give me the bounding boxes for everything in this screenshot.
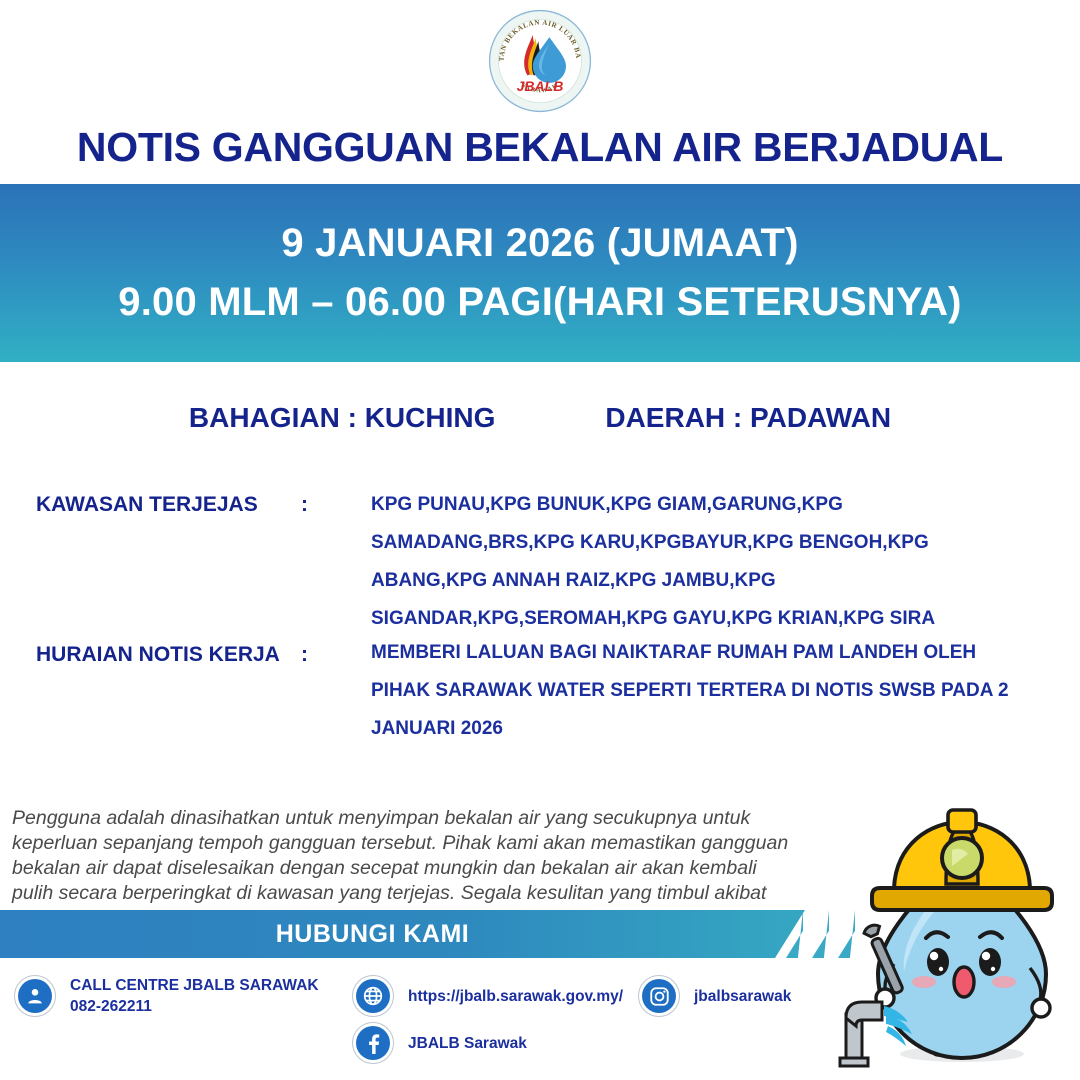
contact-facebook[interactable]: JBALB Sarawak: [352, 1022, 527, 1064]
schedule-banner: 9 JANUARI 2026 (JUMAAT) 9.00 MLM – 06.00…: [0, 184, 1080, 362]
affected-areas-colon: :: [301, 486, 371, 522]
notice-poster: JABATAN BEKALAN AIR LUAR BANDAR SARAWAK …: [0, 0, 1080, 1080]
affected-areas-value: KPG PUNAU,KPG BUNUK,KPG GIAM,GARUNG,KPG …: [371, 486, 1046, 638]
work-description-value: MEMBERI LALUAN BAGI NAIKTARAF RUMAH PAM …: [371, 634, 1046, 748]
affected-areas-row: KAWASAN TERJEJAS : KPG PUNAU,KPG BUNUK,K…: [36, 486, 1046, 638]
affected-areas-label: KAWASAN TERJEJAS: [36, 486, 301, 522]
work-description-line: JANUARI 2026: [371, 710, 1046, 748]
details-table: KAWASAN TERJEJAS : KPG PUNAU,KPG BUNUK,K…: [36, 486, 1046, 748]
contact-call-centre[interactable]: CALL CENTRE JBALB SARAWAK 082-262211: [14, 975, 319, 1017]
affected-areas-line: SAMADANG,BRS,KPG KARU,KPGBAYUR,KPG BENGO…: [371, 524, 1046, 562]
instagram-handle[interactable]: jbalbsarawak: [694, 986, 791, 1007]
contact-heading-bar: HUBUNGI KAMI: [0, 910, 805, 958]
banner-time: 9.00 MLM – 06.00 PAGI(HARI SETERUSNYA): [118, 280, 961, 325]
work-description-label: HURAIAN NOTIS KERJA: [36, 634, 301, 672]
website-url[interactable]: https://jbalb.sarawak.gov.my/: [408, 986, 623, 1007]
facebook-handle[interactable]: JBALB Sarawak: [408, 1033, 527, 1054]
affected-areas-line: KPG PUNAU,KPG BUNUK,KPG GIAM,GARUNG,KPG: [371, 486, 1046, 524]
district-label: DAERAH : PADAWAN: [605, 402, 891, 434]
page-title: NOTIS GANGGUAN BEKALAN AIR BERJADUAL: [0, 124, 1080, 171]
water-droplet-mascot: [834, 796, 1074, 1074]
person-icon: [14, 975, 56, 1017]
work-description-line: MEMBERI LALUAN BAGI NAIKTARAF RUMAH PAM …: [371, 634, 1046, 672]
contact-heading: HUBUNGI KAMI: [276, 920, 470, 949]
svg-text:JBALB: JBALB: [517, 78, 564, 94]
logo-container: JABATAN BEKALAN AIR LUAR BANDAR SARAWAK …: [0, 6, 1080, 116]
work-description-row: HURAIAN NOTIS KERJA : MEMBERI LALUAN BAG…: [36, 634, 1046, 748]
globe-icon: [352, 975, 394, 1017]
facebook-icon: [352, 1022, 394, 1064]
work-description-line: PIHAK SARAWAK WATER SEPERTI TERTERA DI N…: [371, 672, 1046, 710]
decorative-slash-icon: [812, 910, 829, 958]
division-label: BAHAGIAN : KUCHING: [189, 402, 495, 434]
instagram-icon: [638, 975, 680, 1017]
affected-areas-line: ABANG,KPG ANNAH RAIZ,KPG JAMBU,KPG: [371, 562, 1046, 600]
work-description-colon: :: [301, 634, 371, 672]
call-centre-line1: CALL CENTRE JBALB SARAWAK: [70, 975, 319, 996]
call-centre-line2: 082-262211: [70, 996, 319, 1017]
banner-date: 9 JANUARI 2026 (JUMAAT): [281, 221, 798, 266]
contact-website[interactable]: https://jbalb.sarawak.gov.my/: [352, 975, 623, 1017]
jbalb-logo: JABATAN BEKALAN AIR LUAR BANDAR SARAWAK …: [488, 9, 592, 113]
location-row: BAHAGIAN : KUCHING DAERAH : PADAWAN: [0, 402, 1080, 434]
affected-areas-line: SIGANDAR,KPG,SEROMAH,KPG GAYU,KPG KRIAN,…: [371, 600, 1046, 638]
contact-instagram[interactable]: jbalbsarawak: [638, 975, 791, 1017]
